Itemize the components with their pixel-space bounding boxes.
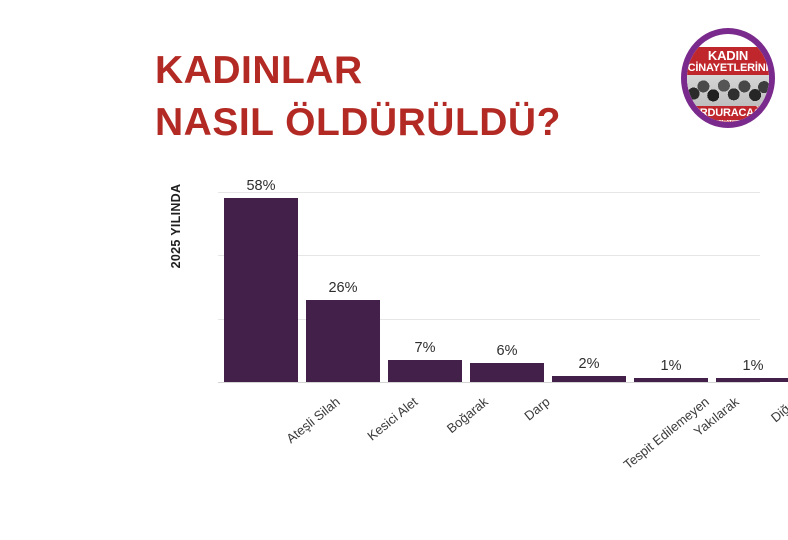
bar[interactable] [552,376,626,382]
x-axis-category-label: Boğarak [444,394,491,436]
bar[interactable] [470,363,544,382]
plot-area: 0%20%40%60% 58%26%7%6%2%1%1% Ateşli Sila… [218,192,760,382]
x-axis-category-label: Kesici Alet [364,394,420,443]
x-axis-category-label: Ateşli Silah [283,394,342,446]
bar-value-label: 1% [704,358,788,374]
x-axis-category-label: Diğer [768,394,788,425]
infographic-page: KADINLAR NASIL ÖLDÜRÜLDÜ? KADIN CİNAYETL… [0,0,788,540]
bar[interactable] [388,360,462,382]
bar[interactable] [224,198,298,382]
bar-chart: 2025 YILINDA 0%20%40%60% 58%26%7%6%2%1%1… [0,0,788,540]
bar[interactable] [306,300,380,382]
y-axis-title: 2025 YILINDA [169,166,189,286]
gridline [218,382,760,383]
bar-value-label: 26% [294,280,392,296]
bar-series: 58%26%7%6%2%1%1% [218,192,760,382]
bar-value-label: 58% [212,178,310,194]
bar[interactable] [716,378,788,382]
bar[interactable] [634,378,708,382]
x-axis-category-label: Darp [521,394,552,423]
